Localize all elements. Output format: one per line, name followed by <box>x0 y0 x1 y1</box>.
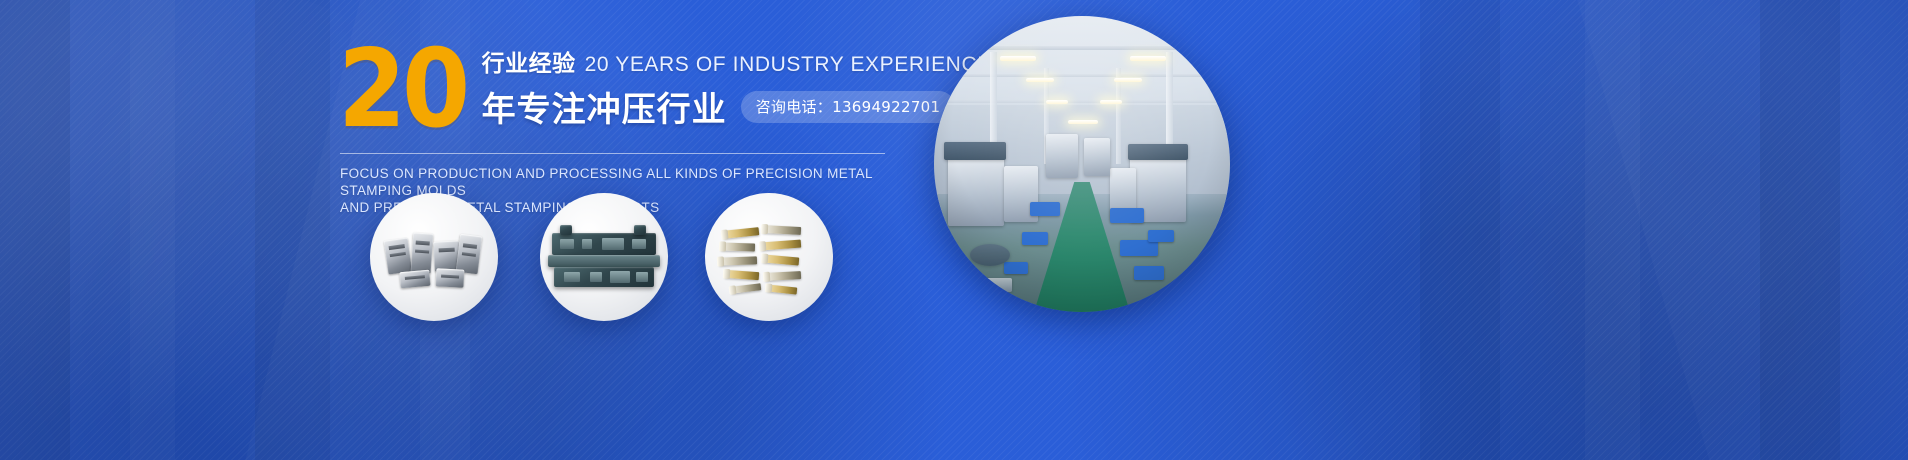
mold-mid-rail <box>548 255 660 267</box>
connector-shell <box>384 237 412 274</box>
divider-line <box>340 153 885 154</box>
connector-shell <box>436 268 465 287</box>
stamping-focus-cn: 年专注冲压行业 <box>482 82 727 131</box>
mold-plate-bottom <box>554 267 654 287</box>
headline-row: 20 行业经验 20 YEARS OF INDUSTRY EXPERIENCE … <box>338 38 898 131</box>
connector-shell <box>399 270 430 289</box>
headline-text: 行业经验 20 YEARS OF INDUSTRY EXPERIENCE 年专注… <box>482 38 992 131</box>
mold-post <box>560 225 572 235</box>
mold-post <box>634 225 646 235</box>
connector-shell <box>411 232 434 273</box>
banner-copy: 20 行业经验 20 YEARS OF INDUSTRY EXPERIENCE … <box>338 38 898 216</box>
industry-experience-en: 20 YEARS OF INDUSTRY EXPERIENCE <box>585 53 992 77</box>
industry-experience-cn: 行业经验 <box>482 44 576 78</box>
factory-shading <box>934 16 1230 312</box>
phone-badge[interactable]: 咨询电话：13694922701 <box>741 91 956 123</box>
terminal-pin <box>719 256 757 265</box>
terminal-pin <box>721 242 755 251</box>
years-number: 20 <box>338 40 466 139</box>
product-circle-stamping-mold[interactable] <box>540 193 668 321</box>
connector-shell <box>456 234 482 274</box>
hero-banner: 20 行业经验 20 YEARS OF INDUSTRY EXPERIENCE … <box>0 0 1908 460</box>
product-circle-connector-shells[interactable] <box>370 193 498 321</box>
mold-plate-top <box>552 233 656 255</box>
headline-line-2: 年专注冲压行业 咨询电话：13694922701 <box>482 82 992 131</box>
headline-line-1: 行业经验 20 YEARS OF INDUSTRY EXPERIENCE <box>482 44 992 78</box>
product-circle-terminal-pins[interactable] <box>705 193 833 321</box>
factory-photo-circle[interactable] <box>934 16 1230 312</box>
